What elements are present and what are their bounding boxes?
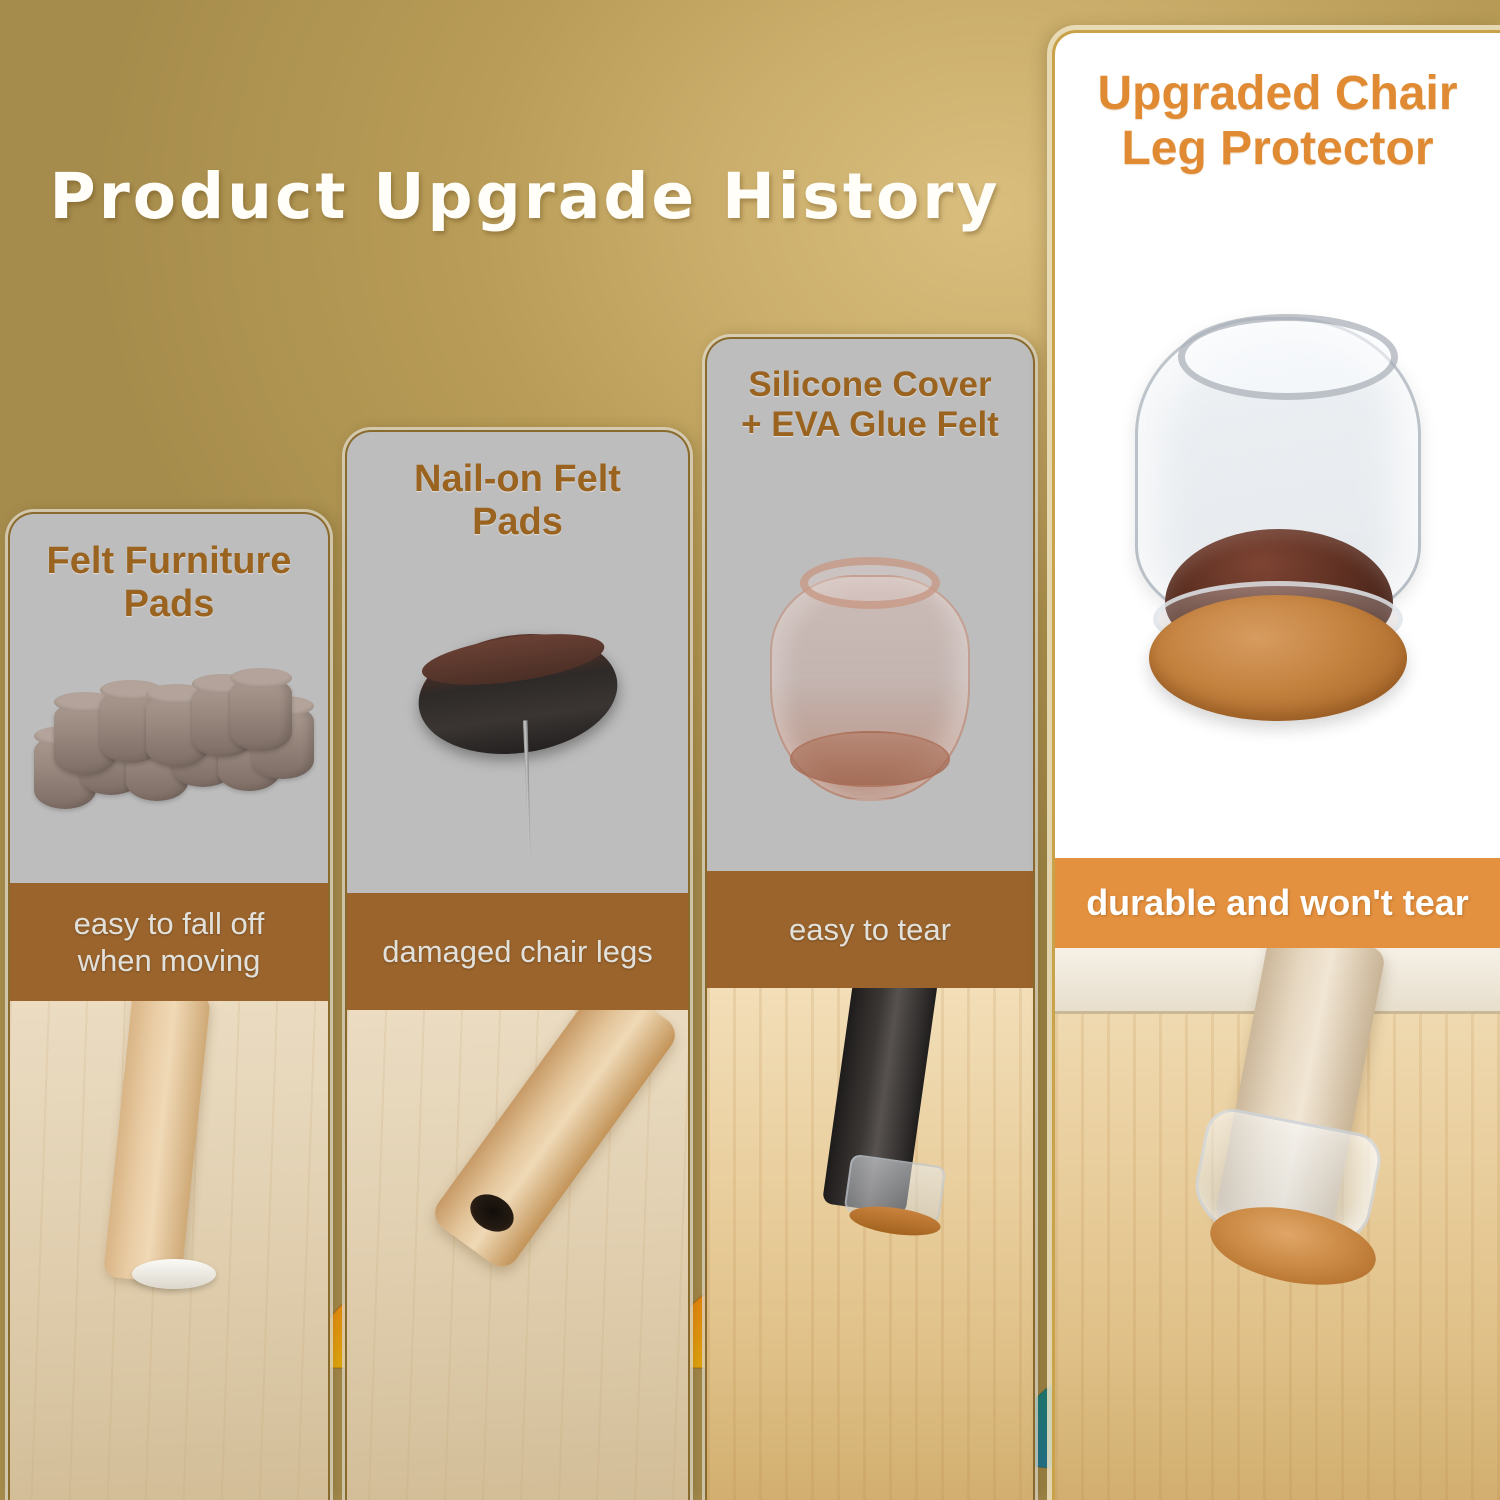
upgrade-timeline: Felt Furniture Pads easy t — [0, 0, 1500, 1500]
panel-4-photo — [1055, 186, 1500, 858]
panel-silicone-cover-eva-glue-felt[interactable]: Silicone Cover + EVA Glue Felt easy to t… — [705, 337, 1035, 1500]
panel-felt-furniture-pads[interactable]: Felt Furniture Pads easy t — [8, 512, 330, 1500]
panel-nail-on-felt-pads[interactable]: Nail-on Felt Pads damaged chair legs — [345, 430, 690, 1500]
silicone-cover-illustration — [764, 535, 976, 803]
panel-3-photo — [707, 451, 1033, 871]
panel-2-heading-line2: Pads — [472, 501, 563, 543]
felt-pad-on-leg — [132, 1259, 216, 1289]
panel-2-floor-photo — [347, 1010, 688, 1500]
panel-4-heading-line2: Leg Protector — [1121, 122, 1433, 175]
panel-upgraded-chair-leg-protector[interactable]: Upgraded Chair Leg Protector durable and… — [1052, 30, 1500, 1500]
panel-1-photo — [10, 633, 328, 883]
panel-3-heading-line1: Silicone Cover — [748, 365, 991, 404]
panel-4-heading-line1: Upgraded Chair — [1097, 67, 1457, 120]
upgraded-protector-illustration — [1113, 307, 1443, 737]
panel-1-caption-line1: easy to fall off — [74, 906, 265, 941]
panel-2-photo — [347, 551, 688, 893]
panel-3-heading-line2: + EVA Glue Felt — [741, 405, 999, 444]
panel-3-heading: Silicone Cover + EVA Glue Felt — [707, 339, 1033, 451]
panel-4-caption: durable and won't tear — [1055, 858, 1500, 948]
panel-4-heading: Upgraded Chair Leg Protector — [1055, 33, 1500, 186]
felt-pads-illustration — [24, 683, 314, 833]
panel-3-caption: easy to tear — [707, 871, 1033, 988]
panel-2-heading: Nail-on Felt Pads — [347, 432, 688, 551]
panel-1-heading: Felt Furniture Pads — [10, 514, 328, 633]
nail-on-pad-illustration — [410, 622, 624, 767]
panel-2-caption: damaged chair legs — [347, 893, 688, 1010]
panel-2-heading-line1: Nail-on Felt — [414, 458, 621, 500]
panel-3-floor-photo — [707, 988, 1033, 1500]
panel-1-floor-photo — [10, 1001, 328, 1500]
panel-1-caption: easy to fall off when moving — [10, 883, 328, 1001]
panel-4-floor-photo — [1055, 948, 1500, 1500]
panel-1-caption-line2: when moving — [78, 943, 261, 978]
